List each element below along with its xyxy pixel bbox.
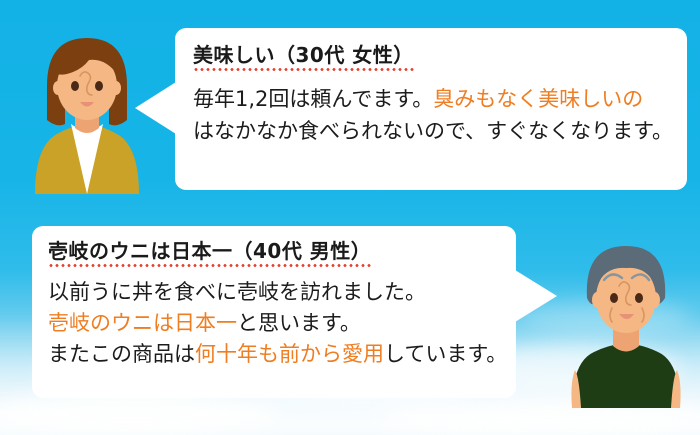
body-line: はなかなか食べられないので、すぐなくなります。: [193, 115, 687, 147]
testimonial-2-headline: 壱岐のウニは日本一（40代 男性）: [48, 238, 371, 267]
testimonial-1-headline: 美味しい（30代 女性）: [193, 42, 414, 71]
man-ear: [592, 292, 602, 308]
body-segment-highlight: 臭みもなく美味しいの: [433, 87, 643, 111]
man-avatar-graphic: [556, 228, 696, 408]
woman-ear: [53, 81, 63, 95]
man-avatar: [556, 228, 696, 408]
man-eye: [610, 293, 618, 303]
body-segment-highlight: 壱岐のウニは日本一: [48, 311, 237, 335]
woman-eye: [71, 81, 79, 91]
speech-bubble-woman: 美味しい（30代 女性） 毎年1,2回は頼んでます。臭みもなく美味しいの はなか…: [175, 28, 687, 190]
body-segment: 以前うに丼を食べに壱岐を訪れました。: [48, 280, 426, 304]
body-line: またこの商品は何十年も前から愛用しています。: [48, 339, 516, 370]
body-segment-highlight: 何十年も前から愛用: [195, 342, 384, 366]
testimonial-banner: 美味しい（30代 女性） 毎年1,2回は頼んでます。臭みもなく美味しいの はなか…: [0, 0, 700, 435]
bubble-tail-left: [135, 82, 176, 134]
body-line: 以前うに丼を食べに壱岐を訪れました。: [48, 277, 516, 308]
body-segment: しています。: [384, 342, 507, 366]
body-line: 壱岐のウニは日本一と思います。: [48, 308, 516, 339]
man-tshirt: [572, 343, 680, 408]
body-segment: 毎年1,2回は頼んでます。: [193, 87, 433, 111]
woman-ear: [111, 81, 121, 95]
woman-avatar-graphic: [22, 24, 152, 194]
woman-eye: [95, 81, 103, 91]
testimonial-1-body: 毎年1,2回は頼んでます。臭みもなく美味しいの はなかなか食べられないので、すぐ…: [193, 83, 687, 147]
woman-avatar: [22, 24, 152, 194]
man-ear: [650, 292, 660, 308]
speech-bubble-man: 壱岐のウニは日本一（40代 男性） 以前うに丼を食べに壱岐を訪れました。 壱岐の…: [32, 226, 516, 398]
man-eye: [635, 293, 643, 303]
body-segment: と思います。: [237, 311, 361, 335]
bubble-tail-right: [515, 270, 557, 322]
body-segment: またこの商品は: [48, 342, 195, 366]
body-segment: はなかなか食べられないので、すぐなくなります。: [193, 119, 673, 143]
testimonial-2-body: 以前うに丼を食べに壱岐を訪れました。 壱岐のウニは日本一と思います。 またこの商…: [48, 277, 516, 370]
body-line: 毎年1,2回は頼んでます。臭みもなく美味しいの: [193, 83, 687, 115]
